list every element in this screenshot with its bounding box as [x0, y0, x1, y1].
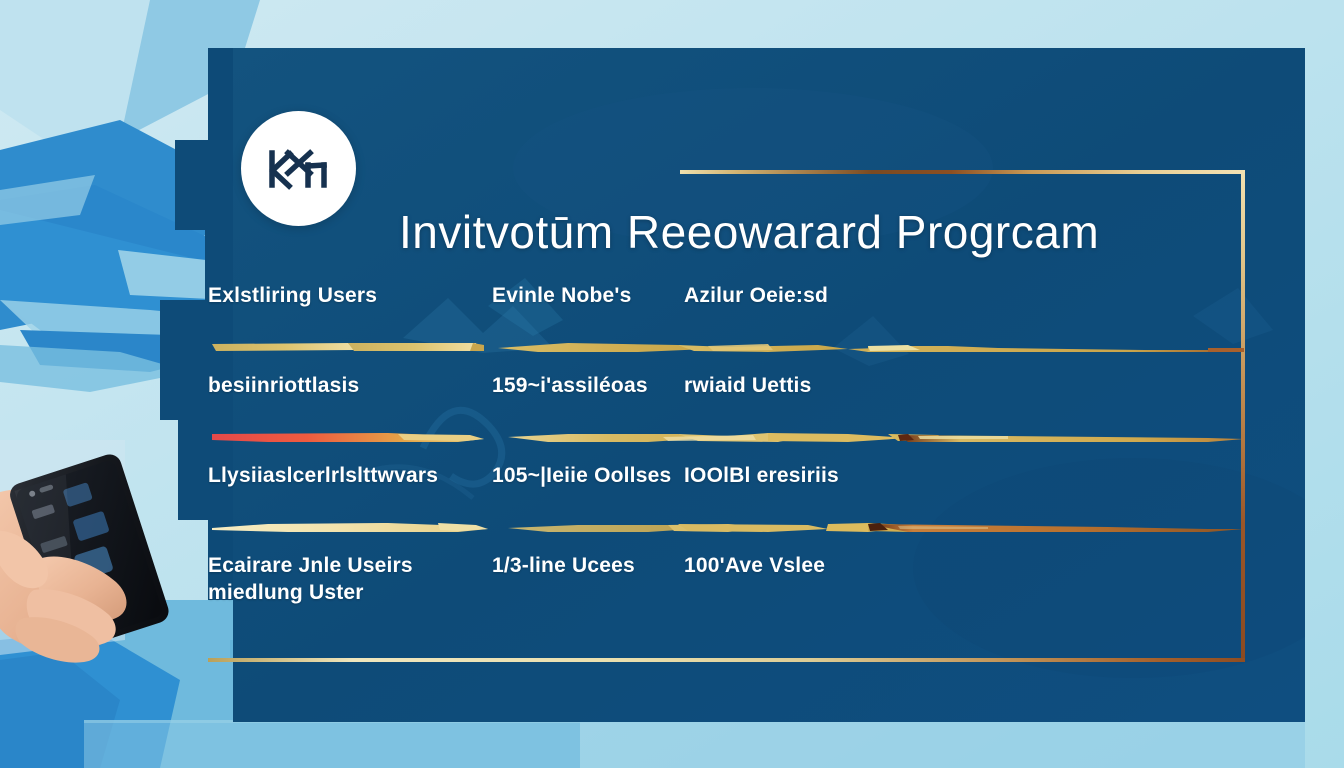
- cell-r0-c0: besiinriottlasis: [208, 372, 359, 399]
- cell-r1-c1: 105~|Ieiie Oollses: [492, 462, 671, 489]
- divider-shape-0: [208, 340, 1248, 354]
- cell-r1-c0: Llysiiaslcerlrlslttwvars: [208, 462, 438, 489]
- row-divider-1: [208, 430, 1248, 444]
- page-title: Invitvotūm Reeowarard Progrcam: [399, 205, 1159, 259]
- table-header-row: Exlstliring Users Evinle Nobe's Azilur O…: [208, 268, 1248, 358]
- table-row: Ecairare Jnle Useirs miedlung Uster 1/3-…: [208, 538, 1248, 628]
- frame-border-bottom: [208, 658, 1245, 662]
- column-header-0: Exlstliring Users: [208, 282, 377, 309]
- row-divider-2: [208, 520, 1248, 534]
- column-header-1: Evinle Nobe's: [492, 282, 631, 309]
- brand-logo: [241, 111, 356, 226]
- cell-r0-c2: rwiaid Uettis: [684, 372, 811, 399]
- divider-shape-2: [208, 520, 1248, 534]
- table-row: Llysiiaslcerlrlslttwvars 105~|Ieiie Ooll…: [208, 448, 1248, 538]
- cell-r2-c1: 1/3-line Ucees: [492, 552, 635, 579]
- table-row: besiinriottlasis 159~i'assiléoas rwiaid …: [208, 358, 1248, 448]
- row-divider-0: [208, 340, 1248, 354]
- cell-r2-c0: Ecairare Jnle Useirs miedlung Uster: [208, 552, 413, 606]
- rewards-table: Exlstliring Users Evinle Nobe's Azilur O…: [208, 268, 1248, 628]
- divider-shape-1: [208, 430, 1248, 444]
- brand-monogram-icon: [264, 139, 334, 199]
- cell-r2-c2: 100'Ave Vslee: [684, 552, 825, 579]
- cell-r1-c2: IOOlBl eresiriis: [684, 462, 839, 489]
- frame-border-top: [680, 170, 1245, 174]
- column-header-2: Azilur Oeie:sd: [684, 282, 828, 309]
- cell-r0-c1: 159~i'assiléoas: [492, 372, 648, 399]
